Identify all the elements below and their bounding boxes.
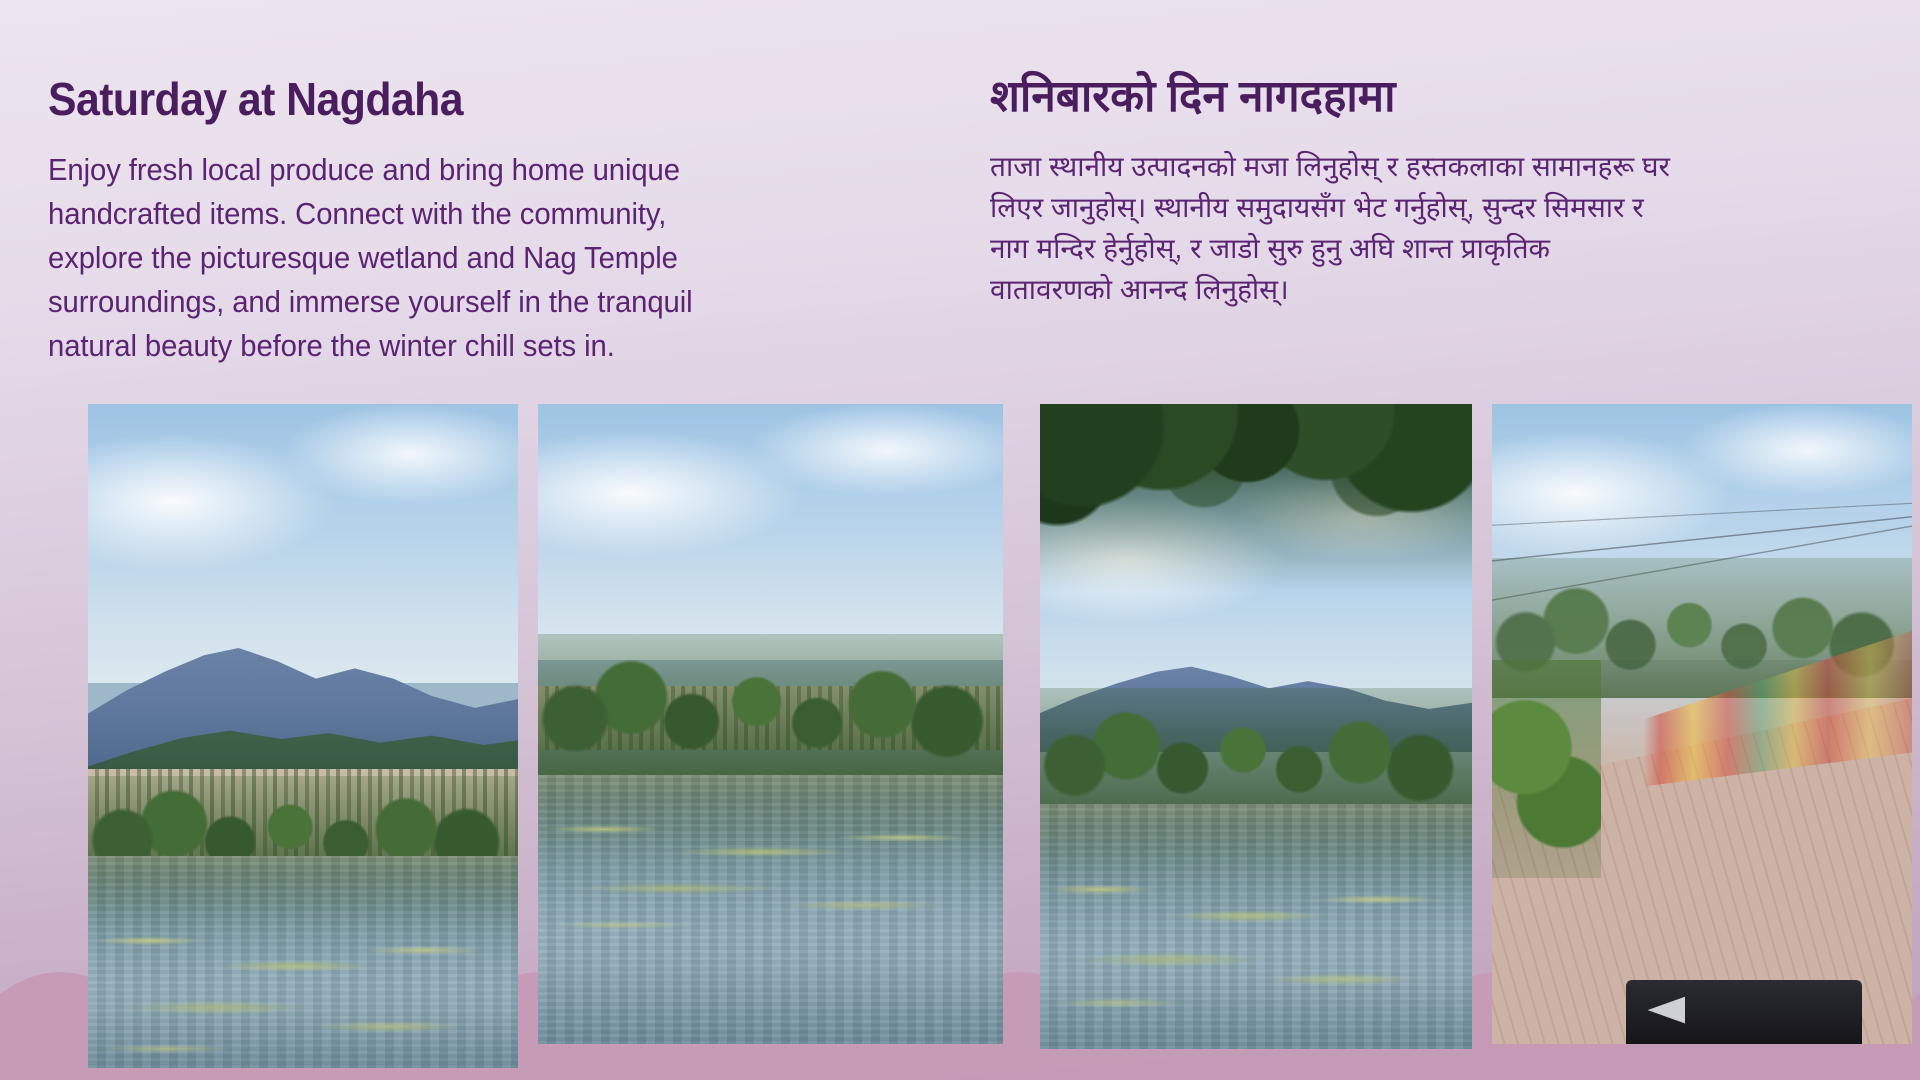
nepali-body-text: ताजा स्थानीय उत्पादनको मजा लिनुहोस् र हस… [990, 146, 1670, 310]
text-columns: Saturday at Nagdaha Enjoy fresh local pr… [0, 0, 1920, 390]
english-body-text: Enjoy fresh local produce and bring home… [48, 148, 720, 368]
poster-canvas: Saturday at Nagdaha Enjoy fresh local pr… [0, 0, 1920, 1080]
gallery-photo-wetland-embankment [538, 404, 1003, 1044]
nepali-headline: शनिबारको दिन नागदहामा [990, 0, 1790, 126]
gallery-photo-tree-canopy-lake [1040, 404, 1472, 1049]
english-column: Saturday at Nagdaha Enjoy fresh local pr… [48, 0, 888, 368]
dashcam-bezel [1626, 980, 1861, 1044]
nepali-column: शनिबारको दिन नागदहामा ताजा स्थानीय उत्पा… [990, 0, 1790, 310]
gallery-photo-lake-mountains [88, 404, 518, 1068]
english-headline: Saturday at Nagdaha [48, 0, 829, 126]
gallery-photo-walkway-stalls [1492, 404, 1912, 1044]
